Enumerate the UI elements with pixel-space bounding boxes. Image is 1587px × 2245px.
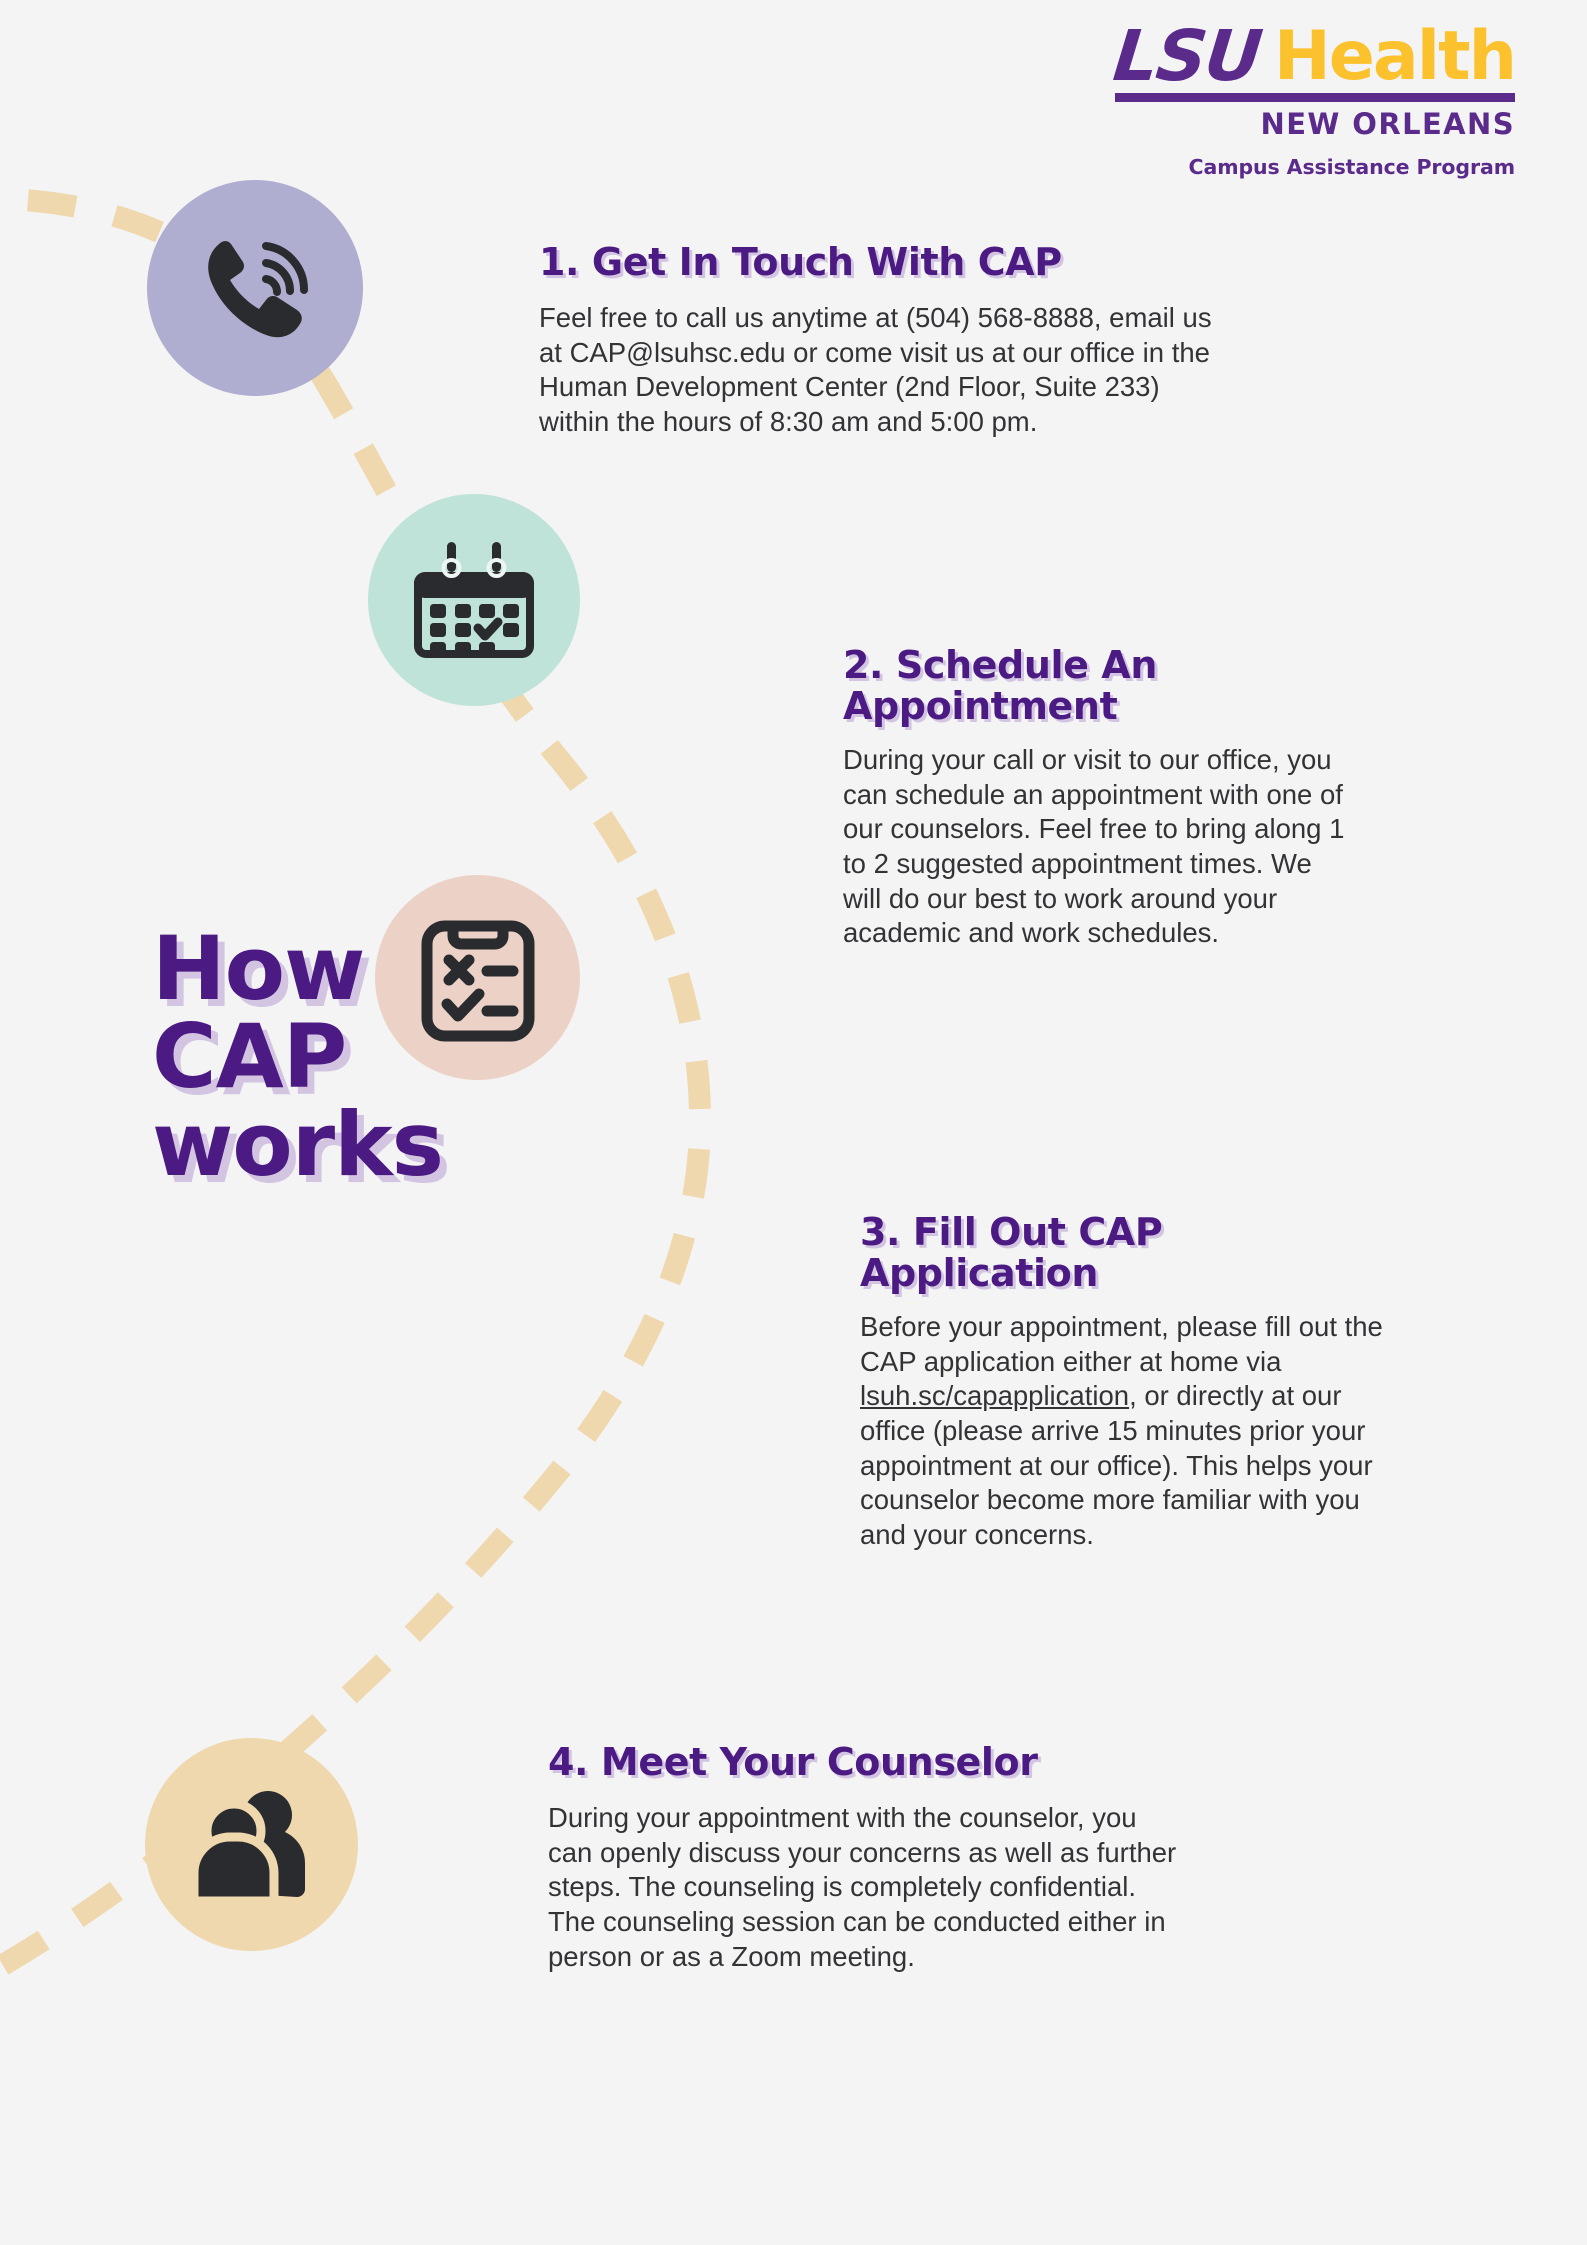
step-4: 4. Meet Your Counselor During your appoi…: [548, 1742, 1188, 1974]
step-2-body: During your call or visit to our office,…: [843, 743, 1353, 951]
logo-program-text: Campus Assistance Program: [1115, 155, 1515, 179]
step-2-icon-circle: [368, 494, 580, 706]
step-1-icon-circle: [147, 180, 363, 396]
step-2: 2. Schedule An Appointment During your c…: [843, 645, 1353, 951]
lsu-health-logo: LSU Health NEW ORLEANS Campus Assistance…: [1115, 24, 1515, 179]
step-4-body: During your appointment with the counsel…: [548, 1801, 1188, 1974]
step-1: 1. Get In Touch With CAP Feel free to ca…: [539, 242, 1219, 440]
page-title-line-3: works: [152, 1101, 443, 1189]
people-icon: [189, 1789, 315, 1901]
logo-city-text: NEW ORLEANS: [1115, 107, 1515, 141]
infographic-page: LSU Health NEW ORLEANS Campus Assistance…: [0, 0, 1587, 2245]
step-3-body-before-link: Before your appointment, please fill out…: [860, 1311, 1383, 1377]
step-3-body: Before your appointment, please fill out…: [860, 1310, 1405, 1552]
step-1-heading: 1. Get In Touch With CAP: [539, 242, 1219, 283]
cap-application-link[interactable]: lsuh.sc/capapplication: [860, 1380, 1129, 1411]
page-title-line-2: CAP: [152, 1013, 443, 1101]
calendar-check-icon: [412, 538, 536, 662]
step-3: 3. Fill Out CAP Application Before your …: [860, 1212, 1405, 1553]
step-3-heading: 3. Fill Out CAP Application: [860, 1212, 1405, 1294]
step-4-icon-circle: [145, 1738, 358, 1951]
page-title: How CAP works: [152, 925, 443, 1189]
logo-lsu-text: LSU: [1111, 24, 1264, 88]
logo-wordmark: LSU Health: [1115, 24, 1515, 88]
logo-health-text: Health: [1274, 26, 1515, 89]
page-title-line-1: How: [152, 925, 443, 1013]
step-4-heading: 4. Meet Your Counselor: [548, 1742, 1188, 1783]
phone-icon: [189, 222, 321, 354]
step-2-heading: 2. Schedule An Appointment: [843, 645, 1353, 727]
step-1-body: Feel free to call us anytime at (504) 56…: [539, 301, 1219, 440]
